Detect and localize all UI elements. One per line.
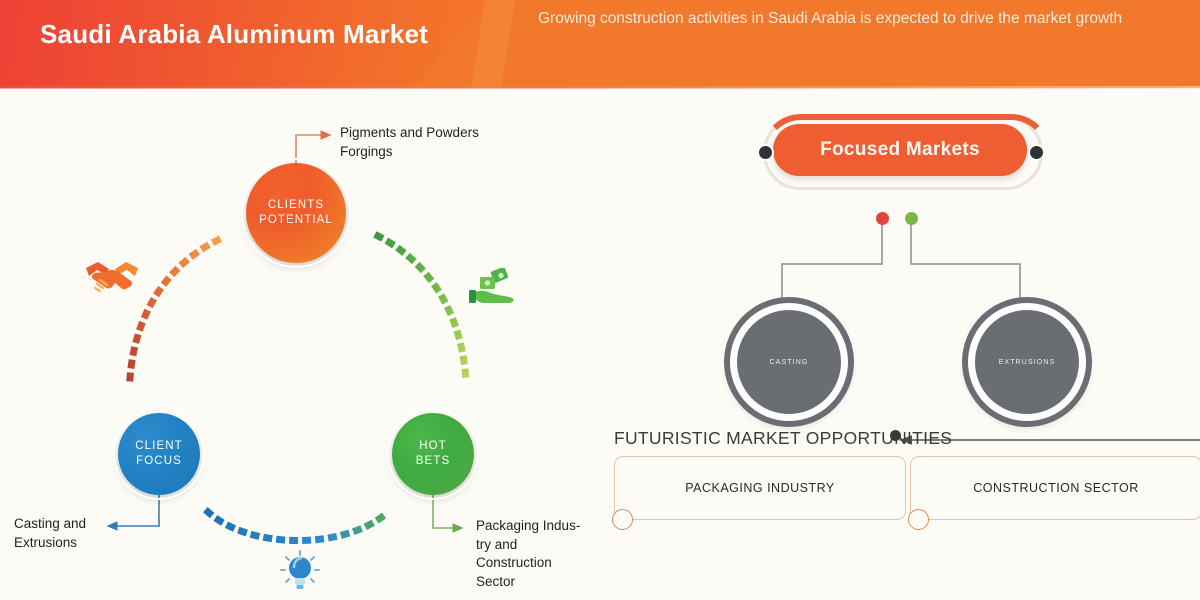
market-circle-extrusions-label: EXTRUSIONS xyxy=(999,359,1056,366)
node-client-focus-label: CLIENT FOCUS xyxy=(135,439,183,469)
node-clients-potential[interactable]: CLIENTS POTENTIAL xyxy=(246,163,346,263)
node-client-focus[interactable]: CLIENT FOCUS xyxy=(118,413,200,495)
focused-markets-pill[interactable]: Focused Markets xyxy=(773,124,1027,176)
focused-markets-left-dot xyxy=(757,144,774,161)
opportunity-box-packaging-industry-label: PACKAGING INDUSTRY xyxy=(685,481,835,495)
header-banner: Saudi Arabia Aluminum Market Growing con… xyxy=(0,0,1200,88)
annotation-casting-line1: Casting and xyxy=(14,515,124,534)
market-circle-extrusions[interactable]: EXTRUSIONS xyxy=(968,303,1086,421)
connector-dot-red xyxy=(876,212,889,225)
annotation-packaging-line2: try and xyxy=(476,536,594,555)
connector-dot-green xyxy=(905,212,918,225)
market-circle-casting[interactable]: CASTING xyxy=(730,303,848,421)
market-circle-casting-label: CASTING xyxy=(770,359,809,366)
annotation-casting-line2: Extrusions xyxy=(14,534,124,553)
infographic-canvas: Saudi Arabia Aluminum Market Growing con… xyxy=(0,0,1200,600)
node-clients-potential-label: CLIENTS POTENTIAL xyxy=(259,198,333,228)
node-hot-bets[interactable]: HOT BETS xyxy=(392,413,474,495)
focused-markets-right-dot xyxy=(1028,144,1045,161)
annotation-packaging-line1: Packaging Indus- xyxy=(476,517,594,536)
annotation-packaging-construction: Packaging Indus- try and Construction Se… xyxy=(476,517,594,591)
opportunity-box-packaging-industry[interactable]: PACKAGING INDUSTRY xyxy=(614,456,906,520)
opportunity-knob-construction xyxy=(908,509,929,530)
annotation-pigments-powders: Pigments and Powders Forgings xyxy=(340,124,530,161)
annotation-pigments-line2: Forgings xyxy=(340,143,530,162)
annotation-casting-extrusions: Casting and Extrusions xyxy=(14,515,124,552)
handshake-icon xyxy=(82,256,142,300)
annotation-packaging-line3: Construction xyxy=(476,554,594,573)
opportunity-knob-packaging xyxy=(612,509,633,530)
opportunity-box-construction-sector-label: CONSTRUCTION SECTOR xyxy=(973,481,1139,495)
opportunities-title: FUTURISTIC MARKET OPPORTUNITIES xyxy=(614,428,952,449)
left-cycle-diagram: CLIENTS POTENTIAL CLIENT FOCUS HOT BETS xyxy=(0,88,600,600)
opportunity-box-construction-sector[interactable]: CONSTRUCTION SECTOR xyxy=(910,456,1200,520)
node-hot-bets-label: HOT BETS xyxy=(416,439,450,469)
focused-markets-group[interactable]: Focused Markets xyxy=(755,110,1045,198)
header-subtitle: Growing construction activities in Saudi… xyxy=(538,8,1138,30)
right-markets-diagram: Focused Markets CASTING EXTRUSIONS FUTUR… xyxy=(600,88,1200,600)
annotation-pigments-line1: Pigments and Powders xyxy=(340,124,530,143)
annotation-packaging-line4: Sector xyxy=(476,573,594,592)
lightbulb-icon xyxy=(280,548,320,596)
money-hand-icon xyxy=(468,268,520,310)
page-title: Saudi Arabia Aluminum Market xyxy=(40,18,480,50)
